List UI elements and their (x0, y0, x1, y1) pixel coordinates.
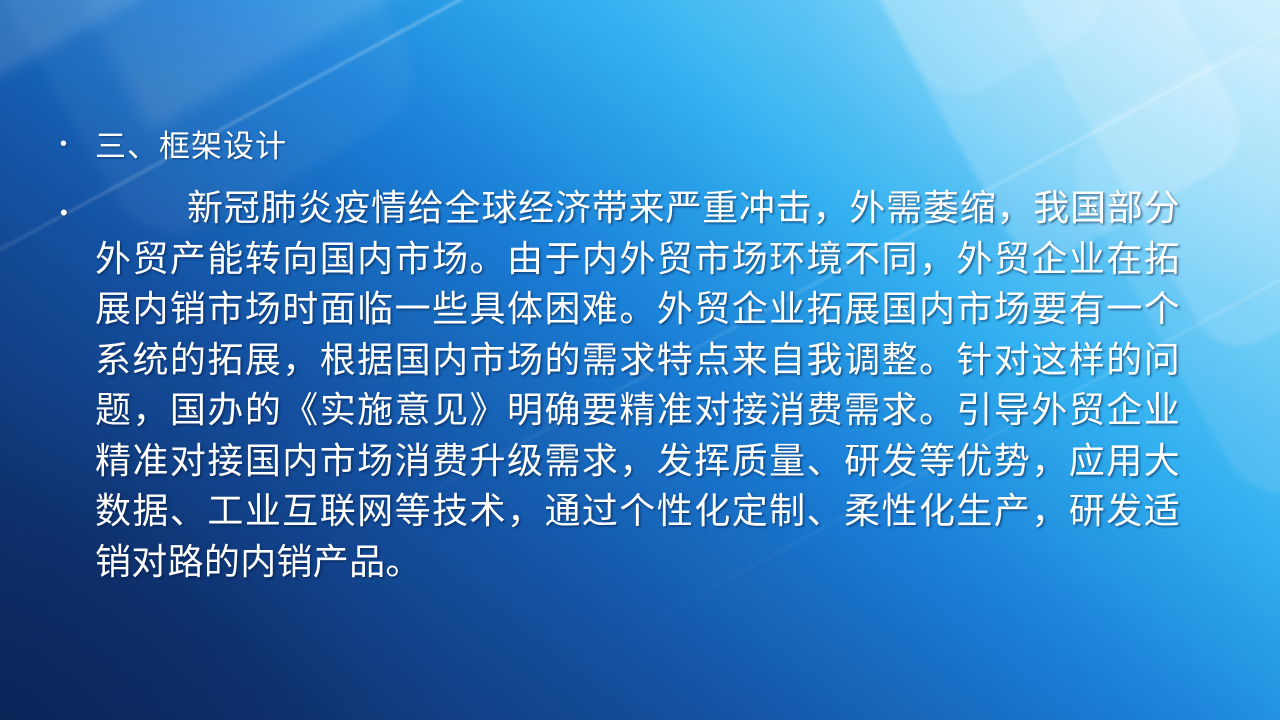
bullet-item-paragraph: 新冠肺炎疫情给全球经济带来严重冲击，外需萎缩，我国部分外贸产能转向国内市场。由于… (60, 184, 1188, 588)
bullet-item-heading: 三、框架设计 (60, 126, 1188, 168)
bullet-marker-icon (60, 126, 95, 154)
bullet-marker-icon (60, 184, 95, 224)
section-heading-text: 三、框架设计 (95, 126, 287, 168)
body-paragraph-text: 新冠肺炎疫情给全球经济带来严重冲击，外需萎缩，我国部分外贸产能转向国内市场。由于… (95, 184, 1180, 588)
slide-content: 三、框架设计 新冠肺炎疫情给全球经济带来严重冲击，外需萎缩，我国部分外贸产能转向… (60, 126, 1188, 588)
presentation-slide: 三、框架设计 新冠肺炎疫情给全球经济带来严重冲击，外需萎缩，我国部分外贸产能转向… (0, 0, 1280, 720)
